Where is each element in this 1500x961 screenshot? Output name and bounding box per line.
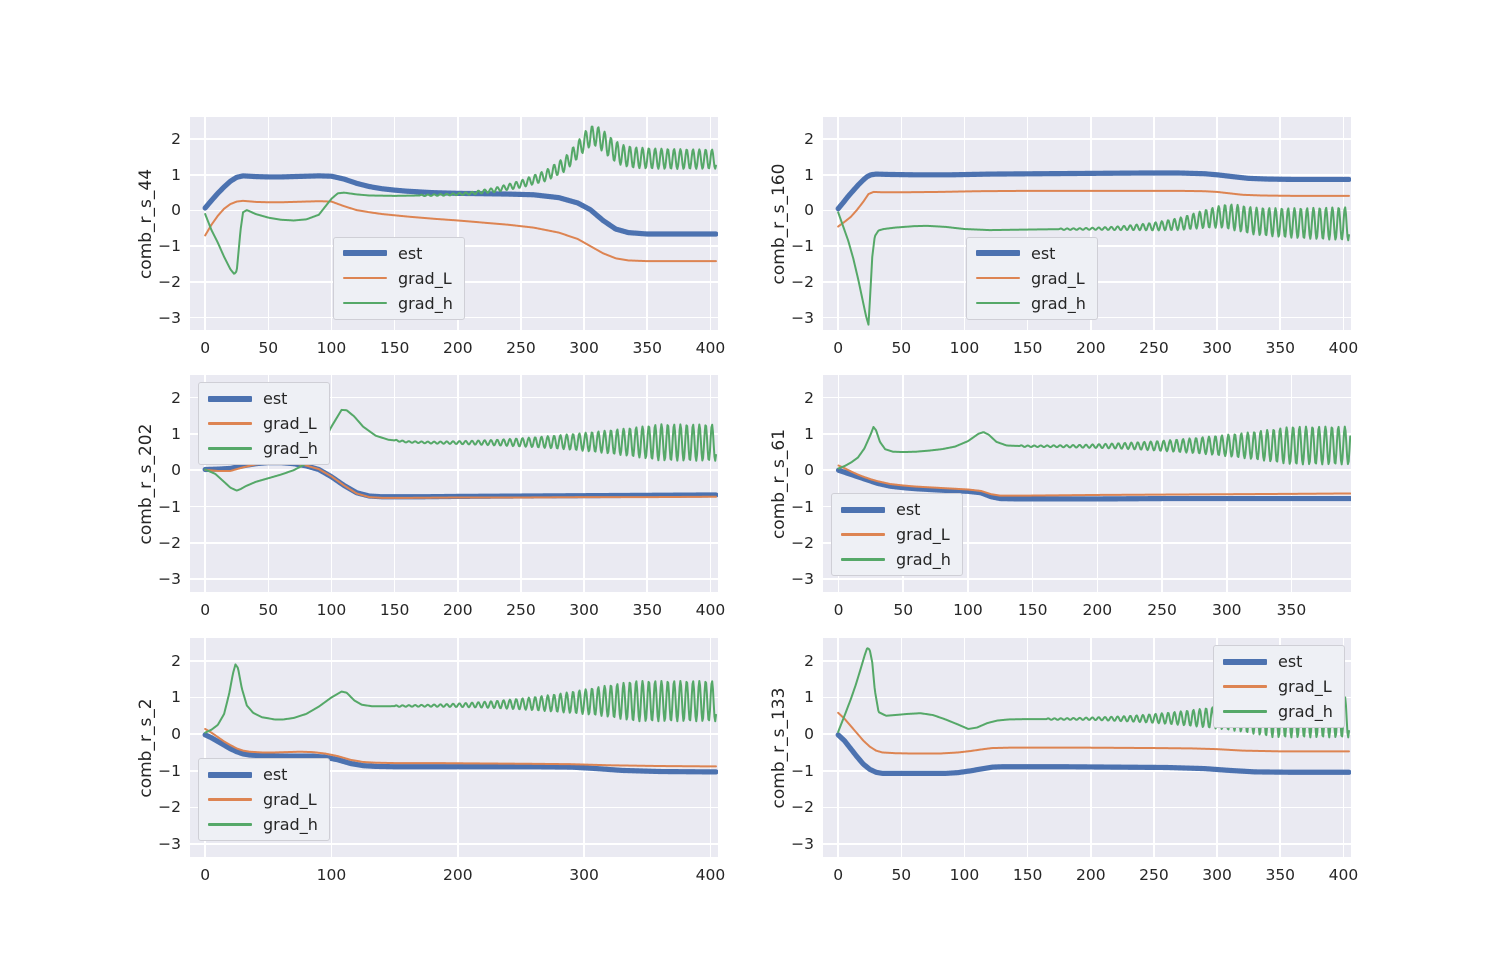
legend-item-grad_h: grad_h — [1223, 703, 1333, 720]
y-tick-label: −3 — [791, 835, 814, 853]
y-tick-label: 2 — [804, 652, 814, 670]
figure-canvas: 210−1−2−3050100150200250300350400comb_r_… — [0, 0, 1500, 961]
x-tick-label: 50 — [891, 866, 911, 884]
legend-swatch-grad_L-icon — [1223, 685, 1267, 688]
legend-swatch-grad_h-icon — [1223, 710, 1267, 713]
y-axis-label-comb_r_s_133: comb_r_s_133 — [769, 687, 789, 808]
subplot-comb_r_s_133: 210−1−2−3050100150200250300350400comb_r_… — [0, 0, 1500, 961]
legend-swatch-est-icon — [1223, 659, 1267, 665]
x-tick-label: 300 — [1202, 866, 1232, 884]
y-tick-label: 1 — [804, 688, 814, 706]
legend-label-grad_L: grad_L — [1278, 678, 1332, 695]
x-tick-label: 0 — [833, 866, 843, 884]
legend-item-grad_L: grad_L — [1223, 678, 1333, 695]
legend-label-grad_h: grad_h — [1278, 703, 1333, 720]
x-tick-label: 350 — [1265, 866, 1295, 884]
legend-comb_r_s_133[interactable]: estgrad_Lgrad_h — [1213, 645, 1345, 728]
y-tick-label: 0 — [804, 725, 814, 743]
x-tick-label: 150 — [1013, 866, 1043, 884]
legend-item-est: est — [1223, 653, 1333, 670]
legend-label-est: est — [1278, 653, 1302, 670]
x-tick-label: 250 — [1139, 866, 1169, 884]
x-tick-label: 100 — [950, 866, 980, 884]
x-tick-label: 400 — [1329, 866, 1359, 884]
y-tick-label: −1 — [791, 762, 814, 780]
x-tick-label: 200 — [1076, 866, 1106, 884]
y-tick-label: −2 — [791, 798, 814, 816]
